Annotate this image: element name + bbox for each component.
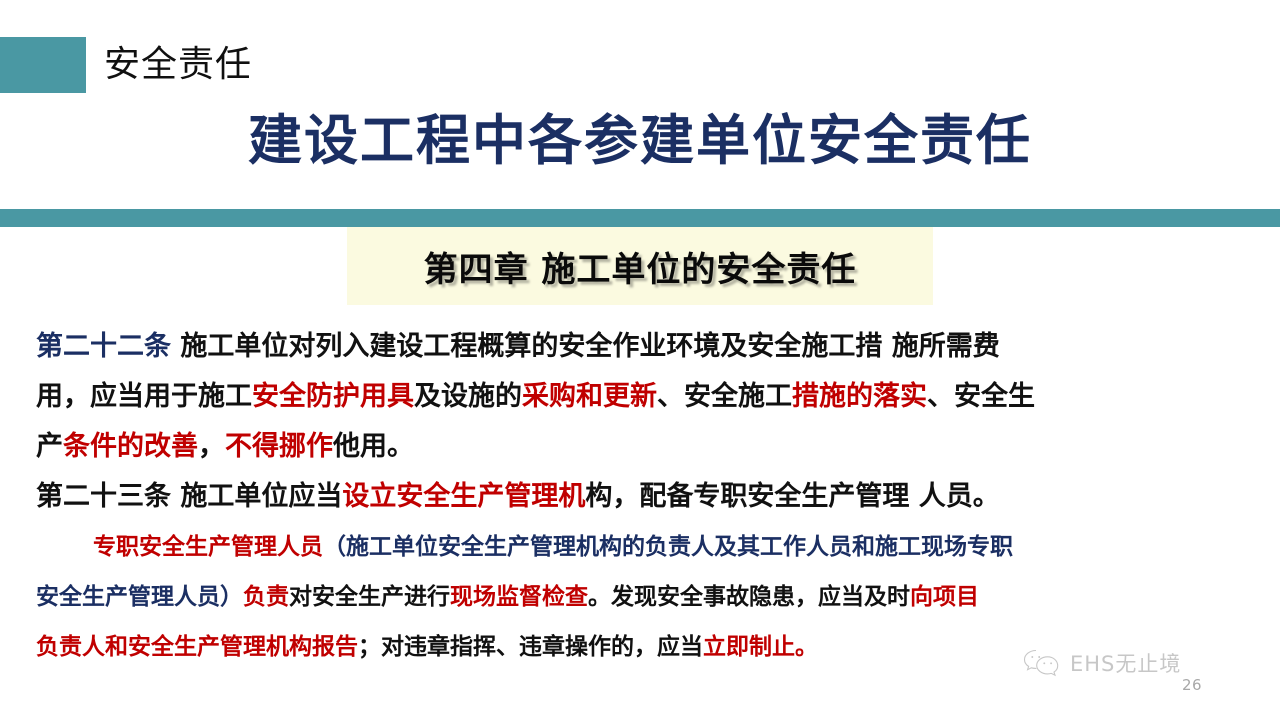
text-line: 第二十二条 施工单位对列入建设工程概算的安全作业环境及安全施工措 施所需费: [36, 322, 1251, 372]
text-run: 、安全生: [927, 381, 1035, 412]
text-run: 不得挪作: [225, 431, 333, 462]
slide-root: 安全责任 建设工程中各参建单位安全责任 第四章 施工单位的安全责任 第二十二条 …: [0, 0, 1280, 720]
text-run: 构，配备专职安全生产管理 人员。: [585, 481, 999, 512]
article-23-paragraph: 第二十三条 施工单位应当设立安全生产管理机构，配备专职安全生产管理 人员。: [36, 472, 1251, 522]
text-run: 负责: [243, 584, 289, 610]
text-run: （施工单位安全生产管理机构的负责人及其工作人员和施工现场专职: [323, 534, 1013, 560]
header-divider-rule: [0, 209, 1280, 227]
text-run: 条件的改善: [63, 431, 198, 462]
text-run: 专职安全生产管理人员: [93, 534, 323, 560]
header-kicker: 安全责任: [104, 40, 252, 90]
text-run: 用，应当用于施工: [36, 381, 252, 412]
text-line: 产条件的改善，不得挪作他用。: [36, 422, 1251, 472]
text-line: 安全生产管理人员）负责对安全生产进行现场监督检查。发现安全事故隐患，应当及时向项…: [36, 572, 1251, 622]
page-number: 26: [1182, 676, 1202, 694]
text-run: 。发现安全事故隐患，应当及时: [588, 584, 910, 610]
text-run: 设立安全生产管理机: [342, 481, 585, 512]
watermark: EHS无止境: [1022, 648, 1181, 678]
text-run: 立即制止。: [703, 634, 818, 660]
chapter-banner: 第四章 施工单位的安全责任: [347, 227, 933, 305]
text-run: ；对违章指挥、违章操作的，应当: [358, 634, 703, 660]
page-title: 建设工程中各参建单位安全责任: [0, 104, 1280, 178]
text-run: 采购和更新: [522, 381, 657, 412]
text-run: 他用。: [333, 431, 414, 462]
body-content: 第二十二条 施工单位对列入建设工程概算的安全作业环境及安全施工措 施所需费 用，…: [36, 322, 1251, 672]
header-accent-block: [0, 37, 86, 93]
text-line: 第二十三条 施工单位应当设立安全生产管理机构，配备专职安全生产管理 人员。: [36, 472, 1251, 522]
text-run: ，: [198, 431, 225, 462]
text-run: 措施的落实: [792, 381, 927, 412]
text-run: 安全生产管理人员）: [36, 584, 243, 610]
text-run: 向项目: [910, 584, 979, 610]
text-line: 用，应当用于施工安全防护用具及设施的采购和更新、安全施工措施的落实、安全生: [36, 372, 1251, 422]
text-line: 专职安全生产管理人员（施工单位安全生产管理机构的负责人及其工作人员和施工现场专职: [36, 522, 1251, 572]
wechat-icon: [1022, 648, 1062, 678]
text-run: 及设施的: [414, 381, 522, 412]
watermark-label: EHS无止境: [1070, 648, 1181, 678]
text-run: 安全防护用具: [252, 381, 414, 412]
text-run: 负责人和安全生产管理机构报告: [36, 634, 358, 660]
chapter-banner-label: 第四章 施工单位的安全责任: [347, 227, 933, 305]
text-run: 现场监督检查: [450, 584, 588, 610]
text-run: 、安全施工: [657, 381, 792, 412]
text-run: 产: [36, 431, 63, 462]
text-run: 第二十三条 施工单位应当: [36, 481, 342, 512]
text-run: 第二十二条: [36, 331, 171, 362]
text-run: 施工单位对列入建设工程概算的安全作业环境及安全施工措 施所需费: [171, 331, 1000, 362]
text-run: 对安全生产进行: [289, 584, 450, 610]
article-22-paragraph: 第二十二条 施工单位对列入建设工程概算的安全作业环境及安全施工措 施所需费 用，…: [36, 322, 1251, 472]
